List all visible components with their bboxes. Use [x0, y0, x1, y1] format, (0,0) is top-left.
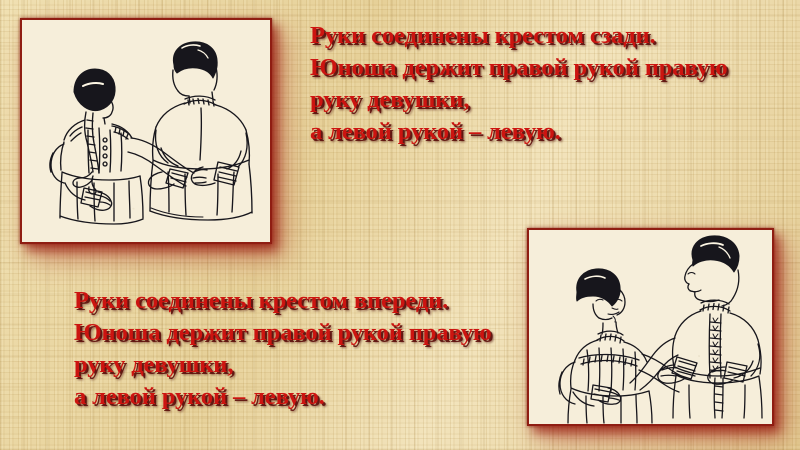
caption-hands-crossed-front: Руки соединены крестом впереди. Юноша де…: [74, 285, 494, 413]
illustration-frame-back[interactable]: [20, 18, 272, 244]
caption-hands-crossed-behind: Руки соединены крестом сзади. Юноша держ…: [310, 20, 730, 148]
couple-hands-crossed-front-illustration: [529, 230, 772, 424]
illustration-canvas-front: [529, 230, 772, 424]
illustration-frame-front[interactable]: [527, 228, 774, 426]
slide-canvas: Руки соединены крестом сзади. Юноша держ…: [0, 0, 800, 450]
couple-hands-crossed-behind-illustration: [22, 20, 270, 242]
illustration-canvas-back: [22, 20, 270, 242]
